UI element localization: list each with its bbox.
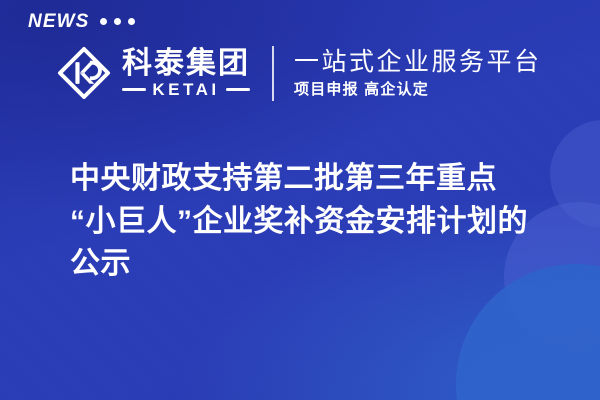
brand-name-en-row: KETAI [122,81,250,98]
headline-title: 中央财政支持第二批第三年重点“小巨人”企业奖补资金安排计划的公示 [70,158,540,286]
ketai-diamond-logo-icon [55,44,113,102]
brand-rule-left [122,88,146,91]
brand-rule-right [226,88,250,91]
news-banner: NEWS [0,0,600,400]
brand-divider [272,46,274,101]
tagline-secondary: 项目申报 高企认定 [294,82,542,99]
brand-name-en: KETAI [152,81,219,98]
news-dot [100,18,107,25]
brand-lockup: 科泰集团 KETAI 一站式企业服务平台 项目申报 高企认定 [55,44,542,102]
tagline-primary: 一站式企业服务平台 [294,48,542,77]
news-dots-icon [100,18,135,25]
news-dot [128,18,135,25]
brand-name-cn: 科泰集团 [122,48,250,80]
news-eyebrow: NEWS [28,12,135,31]
news-label: NEWS [28,12,89,31]
news-dot [114,18,121,25]
brand-tagline: 一站式企业服务平台 项目申报 高企认定 [294,48,542,98]
brand-wordmark: 科泰集团 KETAI [122,48,250,99]
